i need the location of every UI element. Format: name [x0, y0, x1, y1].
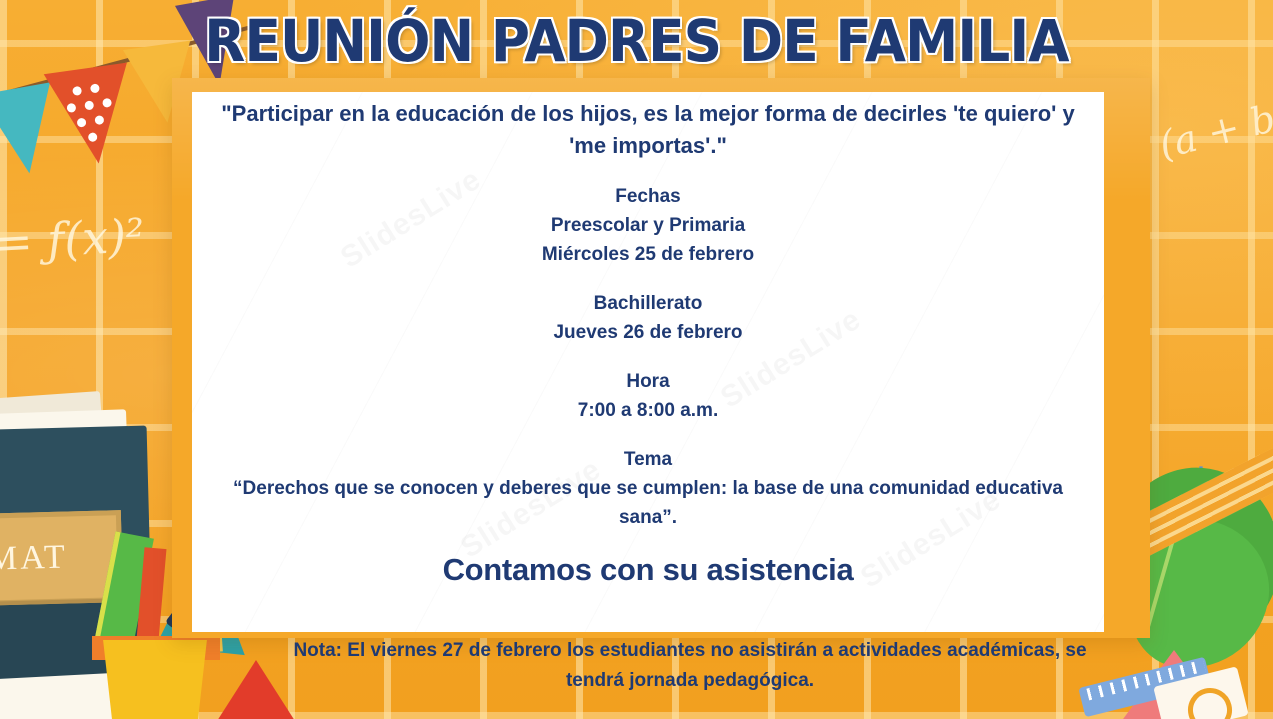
section-line: Miércoles 25 de febrero	[210, 240, 1086, 269]
section-line: Preescolar y Primaria	[210, 211, 1086, 240]
poster-canvas: = ƒ(x)² (a + b) 2 + MAT	[0, 0, 1273, 719]
section-line: Jueves 26 de febrero	[210, 318, 1086, 347]
tema-heading: Tema	[210, 445, 1086, 474]
open-book-icon	[0, 673, 121, 719]
card-body: "Participar en la educación de los hijos…	[210, 92, 1086, 590]
quote-text: "Participar en la educación de los hijos…	[210, 92, 1086, 162]
section-tema: Tema “Derechos que se conocen y deberes …	[210, 445, 1086, 532]
section-fechas: Fechas Preescolar y Primaria Miércoles 2…	[210, 182, 1086, 269]
closing-text: Contamos con su asistencia	[210, 550, 1086, 590]
section-heading: Bachillerato	[210, 289, 1086, 318]
pencil-cup-icon	[96, 640, 214, 719]
section-heading: Fechas	[210, 182, 1086, 211]
section-hora: Hora 7:00 a 8:00 a.m.	[210, 367, 1086, 425]
tema-text: “Derechos que se conocen y deberes que s…	[210, 474, 1086, 532]
section-line: 7:00 a 8:00 a.m.	[210, 396, 1086, 425]
math-formula-left-icon: = ƒ(x)²	[0, 208, 146, 270]
footer-note: Nota: El viernes 27 de febrero los estud…	[280, 636, 1100, 696]
section-bachillerato: Bachillerato Jueves 26 de febrero	[210, 289, 1086, 347]
page-title: REUNIÓN PADRES DE FAMILIA	[51, 8, 1222, 74]
section-heading: Hora	[210, 367, 1086, 396]
